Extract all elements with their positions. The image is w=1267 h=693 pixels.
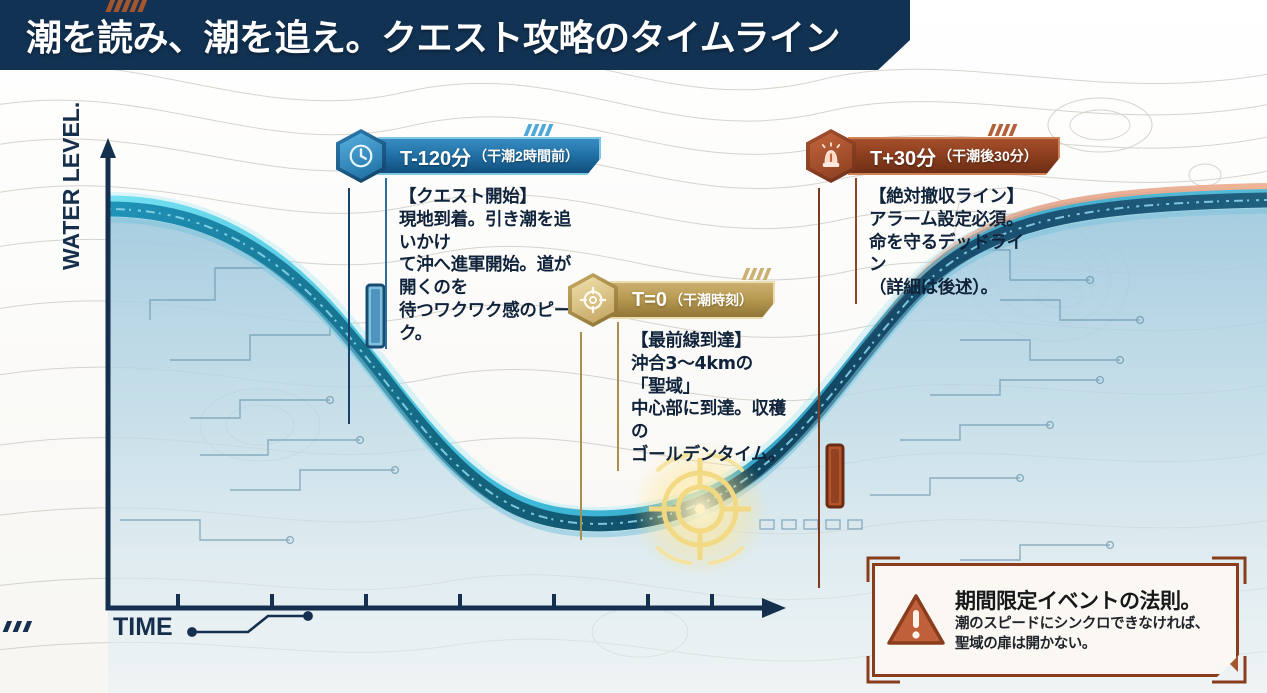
infographic-canvas: WATER LEVEL. TIME 潮を読み、潮を追え。クエスト攻略のタイムライ… — [0, 0, 1267, 693]
callout-time: T+30分 — [870, 142, 936, 171]
callout-heading: 【絶対撤収ライン】 — [869, 187, 1024, 207]
y-axis-label: WATER LEVEL. — [58, 102, 85, 270]
x-axis-label: TIME — [113, 613, 173, 642]
callout-stem-t-zero — [580, 332, 582, 540]
callout-body-t-minus-120: 【クエスト開始】現地到着。引き潮を追いかけ て沖へ進軍開始。道が開くのを 待つワ… — [385, 178, 596, 349]
deco-slashes — [744, 268, 769, 280]
siren-icon-glyph — [817, 142, 845, 170]
callout-text: 現地到着。引き潮を追いかけ て沖へ進軍開始。道が開くのを 待つワクワク感のピーク… — [399, 210, 571, 344]
callout-t-minus-120[interactable]: T-120分 （干潮2時間前） 【クエスト開始】現地到着。引き潮を追いかけ て沖… — [336, 134, 596, 349]
deco-slashes — [990, 124, 1015, 136]
callout-sub: （干潮後30分） — [938, 146, 1038, 166]
callout-heading: 【最前線到達】 — [631, 331, 751, 351]
warning-deco-slashes — [108, 0, 145, 12]
callout-t-zero[interactable]: T=0 （干潮時刻） 【最前線到達】沖合3〜4kmの「聖域」 中心部に到達。収穫… — [568, 278, 796, 471]
warning-panel[interactable]: 期間限定イベントの法則。 潮のスピードにシンクロできなければ、 聖域の扉は開かな… — [872, 563, 1239, 677]
callout-text: 沖合3〜4kmの「聖域」 中心部に到達。収穫の ゴールデンタイム。 — [631, 354, 786, 465]
warning-heading: 期間限定イベントの法則。 — [955, 585, 1226, 615]
page-title: 潮を読み、潮を追え。クエスト攻略のタイムライン — [26, 9, 840, 61]
callout-body-t-plus-30: 【絶対撤収ライン】アラーム設定必須。 命を守るデッドライン （詳細は後述）。 — [855, 178, 1042, 304]
callout-body-t-zero: 【最前線到達】沖合3〜4kmの「聖域」 中心部に到達。収穫の ゴールデンタイム。 — [617, 322, 796, 471]
y-axis-arrow — [100, 138, 116, 158]
callout-time: T-120分 — [400, 142, 471, 171]
callout-text: アラーム設定必須。 命を守るデッドライン （詳細は後述）。 — [869, 210, 1024, 298]
callout-header-plate: T+30分 （干潮後30分） — [848, 137, 1060, 175]
callout-time: T=0 — [632, 289, 667, 312]
callout-stem-t-minus-120 — [348, 188, 350, 424]
crosshair-icon-glyph — [579, 286, 607, 314]
callout-sub: （干潮2時間前） — [473, 146, 579, 166]
callout-header-plate: T=0 （干潮時刻） — [610, 281, 775, 319]
callout-t-plus-30[interactable]: T+30分 （干潮後30分） 【絶対撤収ライン】アラーム設定必須。 命を守るデッ… — [806, 134, 1042, 304]
deco-slashes — [526, 124, 551, 136]
clock-icon-glyph — [348, 143, 374, 169]
warning-body: 潮のスピードにシンクロできなければ、 聖域の扉は開かない。 — [955, 615, 1226, 654]
callout-sub: （干潮時刻） — [669, 290, 753, 310]
callout-stem-t-plus-30 — [818, 188, 820, 588]
warning-triangle-icon — [887, 593, 945, 647]
callout-heading: 【クエスト開始】 — [399, 187, 537, 207]
marker-t-plus-30 — [827, 445, 843, 507]
callout-header-plate: T-120分 （干潮2時間前） — [378, 137, 601, 175]
